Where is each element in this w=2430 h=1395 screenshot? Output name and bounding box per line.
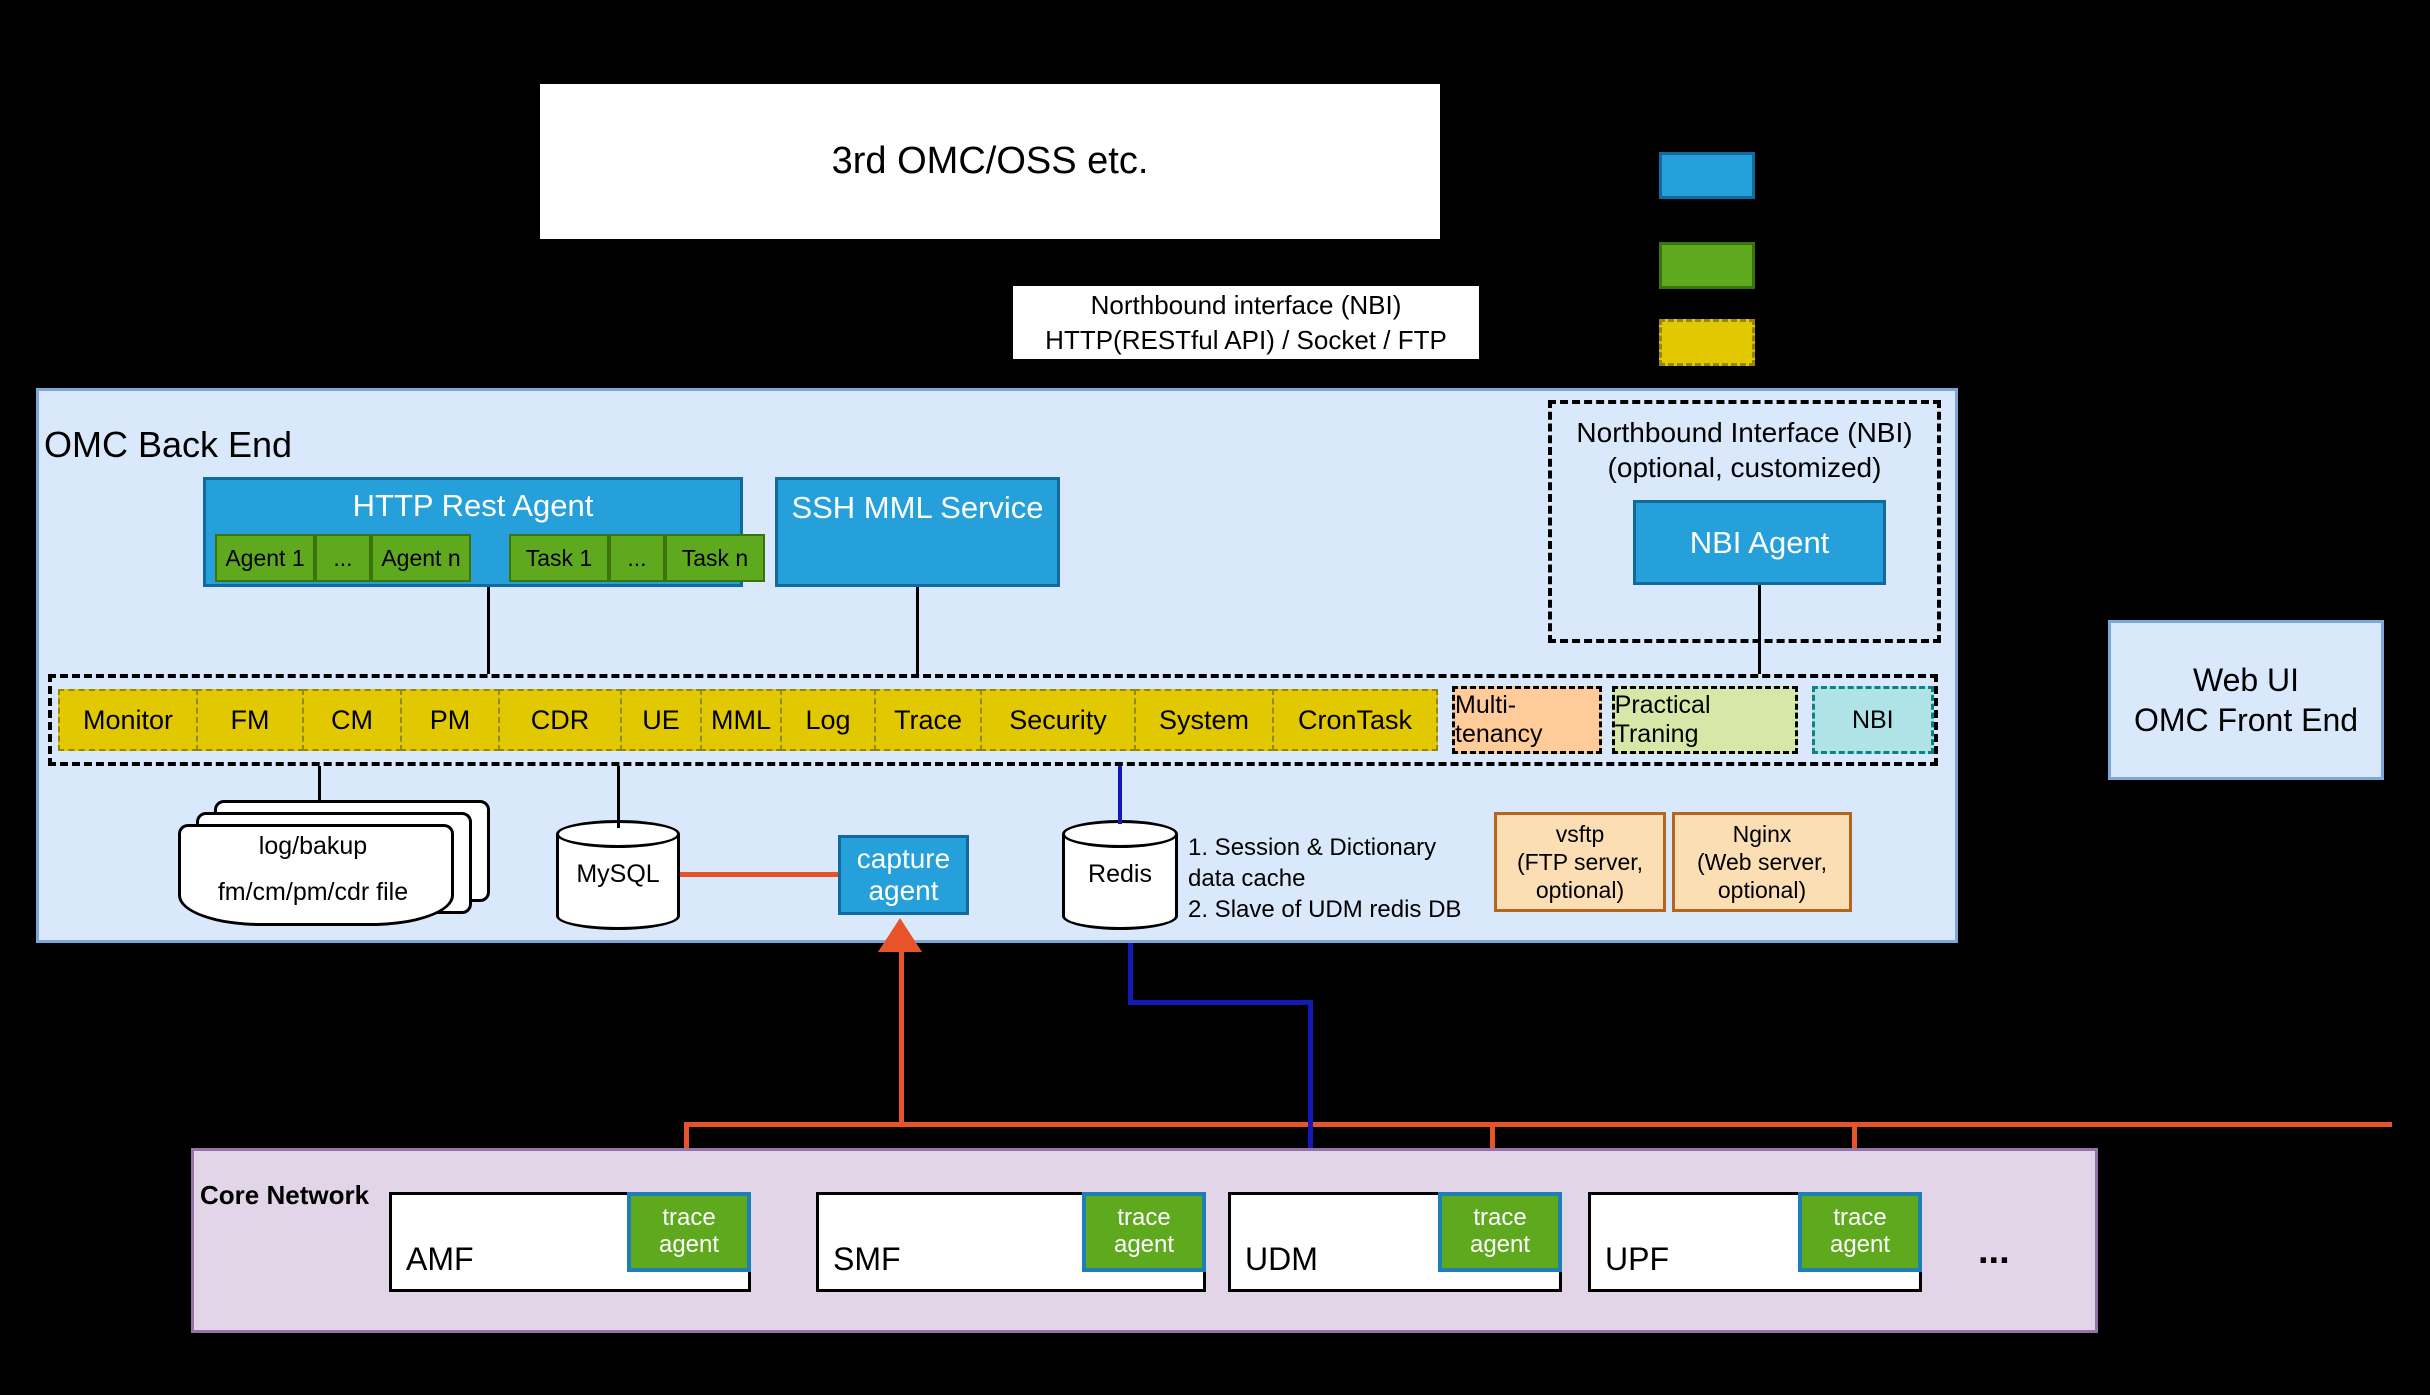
nf-label-upf: UPF	[1605, 1241, 1669, 1278]
web-ui-front-end-box[interactable]: Web UI OMC Front End	[2108, 620, 2384, 780]
redis-note-2: 2. Slave of UDM redis DB	[1188, 894, 1488, 925]
http-rest-agent-box[interactable]: HTTP Rest Agent Agent 1 ... Agent n Task…	[203, 477, 743, 587]
redis-link-seg2	[1128, 1000, 1313, 1005]
link-modules-to-logfiles	[318, 766, 321, 802]
trace-agent-udm[interactable]: trace agent	[1438, 1192, 1562, 1272]
module-security[interactable]: Security	[980, 689, 1136, 751]
link-modules-to-mysql	[617, 766, 620, 828]
core-module-group: MonitorFMCMPMCDRUEMMLLogTraceSecuritySys…	[58, 689, 1436, 751]
trace-bus-to-capture-agent	[899, 948, 904, 1124]
trace-agent-line2: agent	[1470, 1232, 1530, 1259]
ssh-mml-service-box[interactable]: SSH MML Service	[775, 477, 1060, 587]
trace-agent-line2: agent	[1114, 1232, 1174, 1259]
vsftp-name: vsftp	[1556, 820, 1605, 848]
functional-module-bar: MonitorFMCMPMCDRUEMMLLogTraceSecuritySys…	[48, 674, 1938, 766]
trace-agent-line2: agent	[1830, 1232, 1890, 1259]
network-function-amf[interactable]: AMF trace agent	[389, 1192, 751, 1292]
task-cell-group: Task 1 ... Task n	[509, 534, 765, 582]
link-thirdparty-to-nbi	[989, 239, 992, 286]
trace-agent-line2: agent	[659, 1232, 719, 1259]
vsftp-desc-line2: optional)	[1536, 876, 1624, 904]
mysql-label: MySQL	[556, 860, 680, 889]
redis-link-seg1	[1128, 943, 1133, 1005]
module-cdr[interactable]: CDR	[498, 689, 622, 751]
agent-cell-group: Agent 1 ... Agent n	[215, 534, 471, 582]
module-ue[interactable]: UE	[620, 689, 702, 751]
nf-label-udm: UDM	[1245, 1241, 1318, 1278]
trace-bus-horizontal	[684, 1122, 2392, 1127]
legend-swatch-yellow	[1659, 319, 1755, 366]
nbi-agent-box[interactable]: NBI Agent	[1633, 500, 1886, 585]
redis-database-cylinder: Redis	[1062, 820, 1178, 930]
nbi-protocol-line1: Northbound interface (NBI)	[1091, 288, 1402, 322]
nginx-desc-line1: (Web server,	[1697, 848, 1827, 876]
trace-agent-line1: trace	[662, 1205, 715, 1232]
agent-cell[interactable]: Agent n	[371, 534, 471, 582]
module-multi-tenancy[interactable]: Multi-tenancy	[1452, 686, 1602, 754]
module-crontask[interactable]: CronTask	[1272, 689, 1438, 751]
trace-agent-line1: trace	[1473, 1205, 1526, 1232]
vsftp-desc-line1: (FTP server,	[1517, 848, 1643, 876]
link-restagent-to-modules	[487, 587, 490, 674]
link-nbiagent-to-nbimodule	[1758, 585, 1761, 674]
nbi-protocol-line2: HTTP(RESTful API) / Socket / FTP	[1045, 323, 1447, 357]
module-fm[interactable]: FM	[196, 689, 304, 751]
cylinder-bottom	[556, 902, 680, 930]
nbi-area-title-line1: Northbound Interface (NBI)	[1552, 417, 1937, 449]
trace-agent-upf[interactable]: trace agent	[1798, 1192, 1922, 1272]
nf-label-smf: SMF	[833, 1241, 901, 1278]
capture-agent-box[interactable]: capture agent	[838, 835, 969, 915]
log-backup-file-stack: log/bakup fm/cm/pm/cdr file	[178, 800, 488, 930]
nbi-agent-label: NBI Agent	[1690, 525, 1830, 561]
nbi-area-title-line2: (optional, customized)	[1552, 452, 1937, 484]
link-mysql-to-capture-agent	[680, 872, 838, 877]
third-party-label: 3rd OMC/OSS etc.	[832, 140, 1149, 183]
capture-agent-arrow-icon	[878, 918, 922, 952]
omc-back-end-title: OMC Back End	[44, 424, 292, 466]
network-function-upf[interactable]: UPF trace agent	[1588, 1192, 1922, 1292]
log-backup-label-line2: fm/cm/pm/cdr file	[178, 878, 448, 907]
capture-agent-label-line1: capture	[857, 843, 950, 875]
task-cell-ellipsis: ...	[609, 534, 665, 582]
trace-agent-amf[interactable]: trace agent	[627, 1192, 751, 1272]
redis-label: Redis	[1062, 860, 1178, 889]
web-ui-line1: Web UI	[2193, 660, 2299, 700]
link-sshmml-to-modules	[916, 587, 919, 674]
module-system[interactable]: System	[1134, 689, 1274, 751]
legend-swatch-green	[1659, 242, 1755, 289]
nginx-name: Nginx	[1733, 820, 1792, 848]
nginx-desc-line2: optional)	[1718, 876, 1806, 904]
capture-agent-label-line2: agent	[868, 875, 938, 907]
web-ui-line2: OMC Front End	[2134, 700, 2358, 740]
core-network-title: Core Network	[200, 1180, 369, 1211]
network-function-udm[interactable]: UDM trace agent	[1228, 1192, 1562, 1292]
task-cell[interactable]: Task 1	[509, 534, 609, 582]
vsftp-server-box: vsftp (FTP server, optional)	[1494, 812, 1666, 912]
third-party-omc-oss-box: 3rd OMC/OSS etc.	[540, 84, 1440, 239]
module-practical-training[interactable]: Practical Traning	[1612, 686, 1798, 754]
cylinder-bottom	[1062, 902, 1178, 930]
mysql-database-cylinder: MySQL	[556, 820, 680, 930]
http-rest-agent-label: HTTP Rest Agent	[206, 488, 740, 524]
module-trace[interactable]: Trace	[874, 689, 982, 751]
ssh-mml-service-label: SSH MML Service	[791, 490, 1043, 526]
legend-swatch-blue	[1659, 152, 1755, 199]
cylinder-top	[1062, 820, 1178, 848]
log-backup-label-line1: log/bakup	[178, 832, 448, 861]
nf-label-amf: AMF	[406, 1241, 474, 1278]
link-modules-to-redis	[1118, 766, 1122, 824]
northbound-protocol-box: Northbound interface (NBI) HTTP(RESTful …	[1013, 286, 1479, 359]
agent-cell-ellipsis: ...	[315, 534, 371, 582]
module-mml[interactable]: MML	[700, 689, 782, 751]
redis-note-1: 1. Session & Dictionary data cache	[1188, 832, 1488, 894]
module-monitor[interactable]: Monitor	[58, 689, 198, 751]
module-cm[interactable]: CM	[302, 689, 402, 751]
agent-cell[interactable]: Agent 1	[215, 534, 315, 582]
module-pm[interactable]: PM	[400, 689, 500, 751]
link-nbi-to-backend	[989, 359, 992, 388]
core-network-ellipsis: ...	[1978, 1230, 2010, 1273]
nginx-server-box: Nginx (Web server, optional)	[1672, 812, 1852, 912]
module-nbi[interactable]: NBI	[1812, 686, 1934, 754]
task-cell[interactable]: Task n	[665, 534, 765, 582]
redis-notes: 1. Session & Dictionary data cache 2. Sl…	[1188, 832, 1488, 926]
network-function-smf[interactable]: SMF trace agent	[816, 1192, 1206, 1292]
module-log[interactable]: Log	[780, 689, 876, 751]
trace-agent-line1: trace	[1117, 1205, 1170, 1232]
trace-agent-line1: trace	[1833, 1205, 1886, 1232]
trace-agent-smf[interactable]: trace agent	[1082, 1192, 1206, 1272]
